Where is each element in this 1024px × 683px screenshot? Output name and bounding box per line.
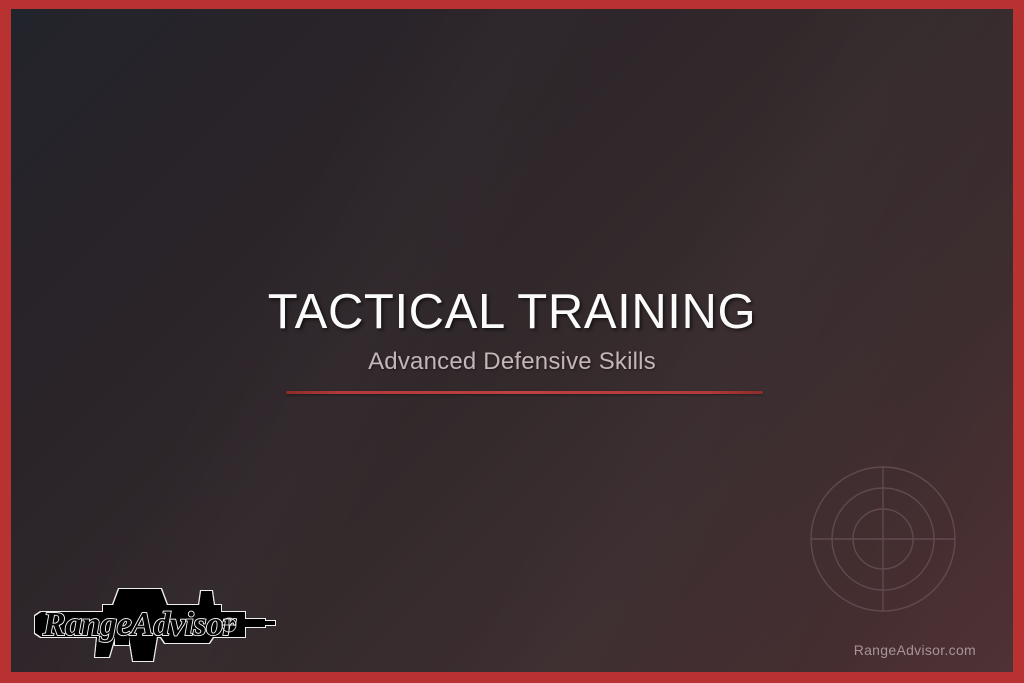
brand-wordmark: RangeAdvisor xyxy=(42,606,237,643)
slide-frame: TACTICAL TRAINING Advanced Defensive Ski… xyxy=(0,0,1024,683)
crosshair-reticle-svg xyxy=(798,454,968,624)
slide-canvas: TACTICAL TRAINING Advanced Defensive Ski… xyxy=(11,9,1013,672)
footer-url: RangeAdvisor.com xyxy=(854,642,976,658)
accent-divider xyxy=(286,391,763,394)
brand-logo: RangeAdvisor xyxy=(33,581,281,663)
page-subtitle: Advanced Defensive Skills xyxy=(11,348,1013,376)
page-title: TACTICAL TRAINING xyxy=(11,287,1013,339)
title-block: TACTICAL TRAINING Advanced Defensive Ski… xyxy=(11,287,1013,376)
rangeadvisor-logo-icon: RangeAdvisor xyxy=(33,581,281,663)
logo-scope-accent xyxy=(222,618,236,632)
crosshair-reticle xyxy=(798,454,968,624)
